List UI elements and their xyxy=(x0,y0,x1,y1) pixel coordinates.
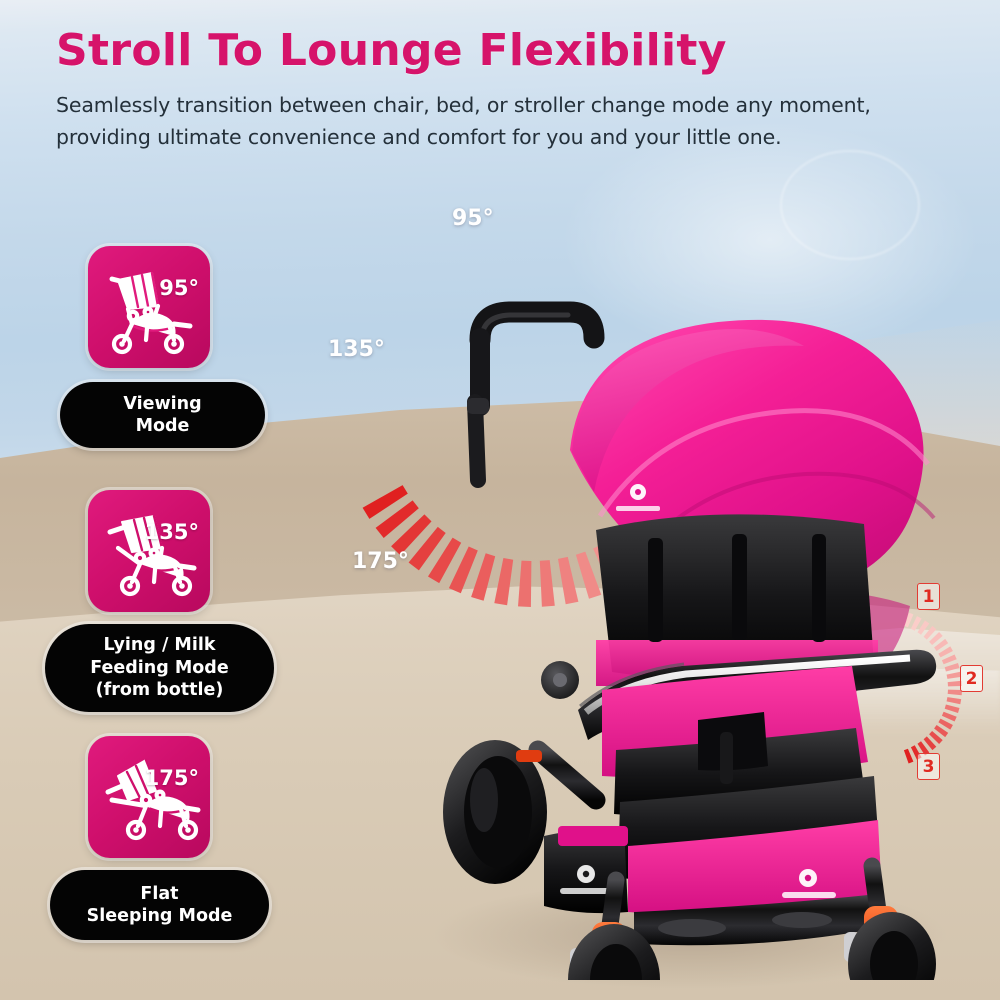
sky-ring-decoration xyxy=(780,150,920,260)
page-title: Stroll To Lounge Flexibility xyxy=(56,28,956,74)
page-subtitle: Seamlessly transition between chair, bed… xyxy=(56,90,951,154)
brake-tab xyxy=(516,750,542,762)
mode-icon-box-viewing: 95° xyxy=(88,246,210,368)
fold-joint xyxy=(541,661,579,699)
mode-card-lying[interactable]: 135° Lying / Milk Feeding Mode (from bot… xyxy=(88,490,210,612)
mode-angle-viewing: 95° xyxy=(159,276,199,300)
mode-angle-flat: 175° xyxy=(145,766,199,790)
mode-angle-lying: 135° xyxy=(145,520,199,544)
stroller-product-image xyxy=(420,280,980,980)
mode-icon-box-flat: 175° xyxy=(88,736,210,858)
stroller-upright-icon xyxy=(88,246,210,368)
mode-label-text-flat: Flat Sleeping Mode xyxy=(87,883,233,928)
mode-icon-box-lying: 135° xyxy=(88,490,210,612)
step-badge-1: 1 xyxy=(917,583,940,610)
mode-label-pill-lying: Lying / Milk Feeding Mode (from bottle) xyxy=(45,624,274,712)
mode-label-pill-viewing: Viewing Mode xyxy=(60,382,265,448)
stroller-flat-icon xyxy=(88,736,210,858)
mode-label-text-viewing: Viewing Mode xyxy=(123,393,201,438)
step-badge-3: 3 xyxy=(917,753,940,780)
gauge-label-135: 135° xyxy=(328,337,385,362)
mode-card-viewing[interactable]: 95° Viewing Mode xyxy=(88,246,210,368)
stroller-reclined-icon xyxy=(88,490,210,612)
gauge-label-175: 175° xyxy=(352,549,409,574)
mode-card-flat[interactable]: 175° Flat Sleeping Mode xyxy=(88,736,210,858)
mode-label-text-lying: Lying / Milk Feeding Mode (from bottle) xyxy=(90,634,228,701)
gauge-label-95: 95° xyxy=(452,206,494,231)
rear-frame xyxy=(538,520,596,800)
header-block: Stroll To Lounge Flexibility Seamlessly … xyxy=(56,28,956,154)
mode-label-pill-flat: Flat Sleeping Mode xyxy=(50,870,269,940)
step-badge-2: 2 xyxy=(960,665,983,692)
